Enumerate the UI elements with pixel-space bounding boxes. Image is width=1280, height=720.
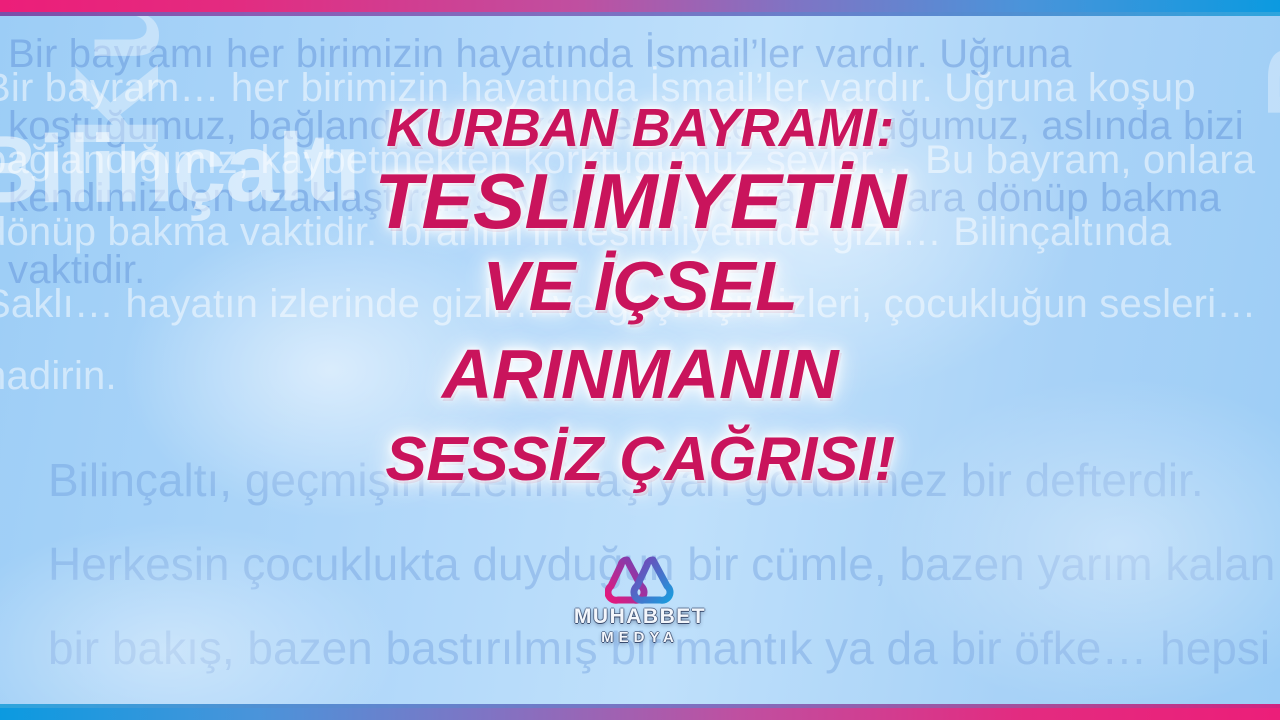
brand-name: MUHABBET: [0, 605, 1280, 629]
headline-line-4: ARINMANIN: [0, 328, 1280, 420]
headline-line-3: VE İÇSEL: [0, 244, 1280, 328]
muhabbet-medya-monogram-icon: [605, 556, 675, 604]
headline-block: KURBAN BAYRAMI: TESLİMİYETİN VE İÇSEL AR…: [0, 98, 1280, 500]
top-accent-hairline: [0, 12, 1280, 16]
headline-line-2: TESLİMİYETİN: [0, 158, 1280, 244]
poster-canvas: Bir bayramı her birimizin hayatında İsma…: [0, 0, 1280, 720]
brand-logo: MUHABBET MEDYA: [0, 556, 1280, 647]
top-accent-bar: [0, 0, 1280, 12]
headline-line-1: KURBAN BAYRAMI:: [0, 98, 1280, 158]
bottom-accent-bar: [0, 708, 1280, 720]
brand-subtitle: MEDYA: [0, 629, 1280, 647]
headline-line-5: SESSİZ ÇAĞRISI!: [0, 420, 1280, 500]
